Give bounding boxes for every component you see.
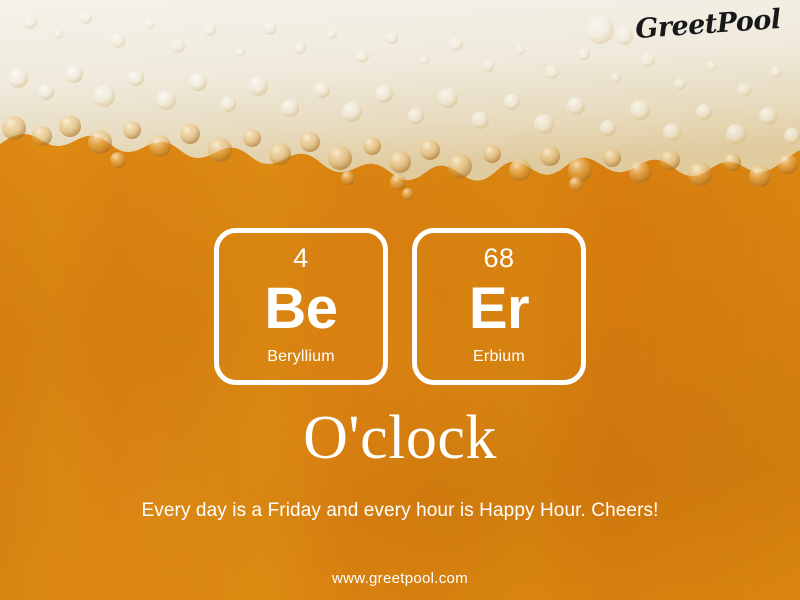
greeting-card: GreetPool 4 Be Beryllium 68 Er Erbium O'…: [0, 0, 800, 600]
element-symbol: Be: [264, 280, 337, 338]
atomic-number: 68: [483, 245, 514, 272]
element-symbol: Er: [469, 280, 529, 338]
element-tiles-group: 4 Be Beryllium 68 Er Erbium: [0, 228, 800, 385]
element-tile-erbium: 68 Er Erbium: [412, 228, 586, 385]
site-url[interactable]: www.greetpool.com: [0, 570, 800, 587]
tagline: Every day is a Friday and every hour is …: [0, 500, 800, 522]
element-name: Beryllium: [219, 348, 383, 366]
element-name: Erbium: [417, 348, 581, 366]
headline: O'clock: [0, 404, 800, 472]
element-tile-beryllium: 4 Be Beryllium: [214, 228, 388, 385]
atomic-number: 4: [293, 245, 309, 272]
